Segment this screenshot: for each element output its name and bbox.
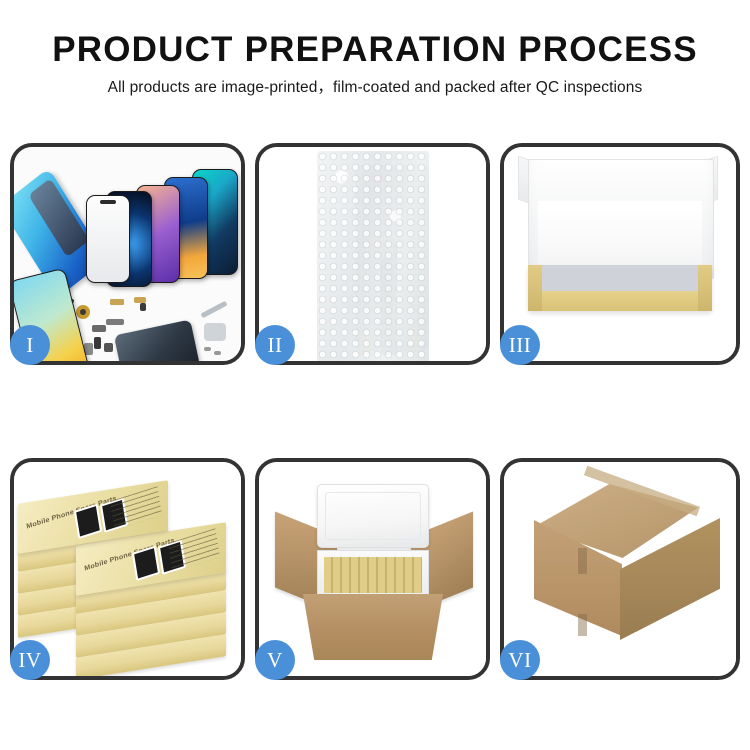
step-badge-1: I — [10, 325, 50, 365]
process-step-panel-1: I — [10, 143, 245, 365]
step-badge-6: VI — [500, 640, 540, 680]
retail-box-spec-lines-1 — [110, 486, 162, 530]
carton-open-icon — [259, 462, 486, 676]
process-step-panel-3: III — [500, 143, 740, 365]
open-flat-box-icon — [504, 147, 736, 361]
step-badge-5: V — [255, 640, 295, 680]
foam-box-lid — [317, 484, 429, 548]
process-step-panel-6: VI — [500, 458, 740, 680]
process-step-panel-5: V — [255, 458, 490, 680]
bubble-wrap-icon — [259, 147, 486, 361]
page-header: PRODUCT PREPARATION PROCESS All products… — [0, 0, 750, 98]
box-base-interior — [538, 265, 702, 291]
retail-box-thumb-1a — [74, 504, 102, 539]
sealed-carton-icon — [504, 462, 736, 676]
carton-front-wall — [303, 594, 443, 660]
process-step-panel-4: Mobile Phone Spare Parts Mobile Phone Sp… — [10, 458, 245, 680]
page-title: PRODUCT PREPARATION PROCESS — [0, 30, 750, 70]
stacked-boxes-icon: Mobile Phone Spare Parts Mobile Phone Sp… — [14, 462, 241, 676]
step-badge-3: III — [500, 325, 540, 365]
phones-parts-icon — [14, 147, 241, 361]
bubble-bag — [317, 151, 429, 361]
step-badge-4: IV — [10, 640, 50, 680]
box-base-flap-right — [698, 265, 712, 311]
process-step-panel-2: II — [255, 143, 490, 365]
box-base-flap-left — [528, 265, 542, 311]
packed-retail-boxes — [324, 557, 422, 593]
carton-seam-upper — [578, 548, 587, 574]
page-subtitle: All products are image-printed，film-coat… — [0, 78, 750, 98]
box-base — [528, 265, 712, 311]
phone-device-1 — [86, 195, 130, 283]
retail-box-stack: Mobile Phone Spare Parts Mobile Phone Sp… — [14, 462, 241, 676]
step-badge-2: II — [255, 325, 295, 365]
retail-box-spec-lines-2 — [168, 528, 220, 572]
process-step-grid: I II III — [10, 143, 740, 680]
retail-box-thumb-2a — [132, 546, 160, 581]
carton-seam-lower — [578, 614, 587, 636]
bubble-texture — [317, 151, 429, 361]
foam-sheet — [538, 201, 702, 275]
